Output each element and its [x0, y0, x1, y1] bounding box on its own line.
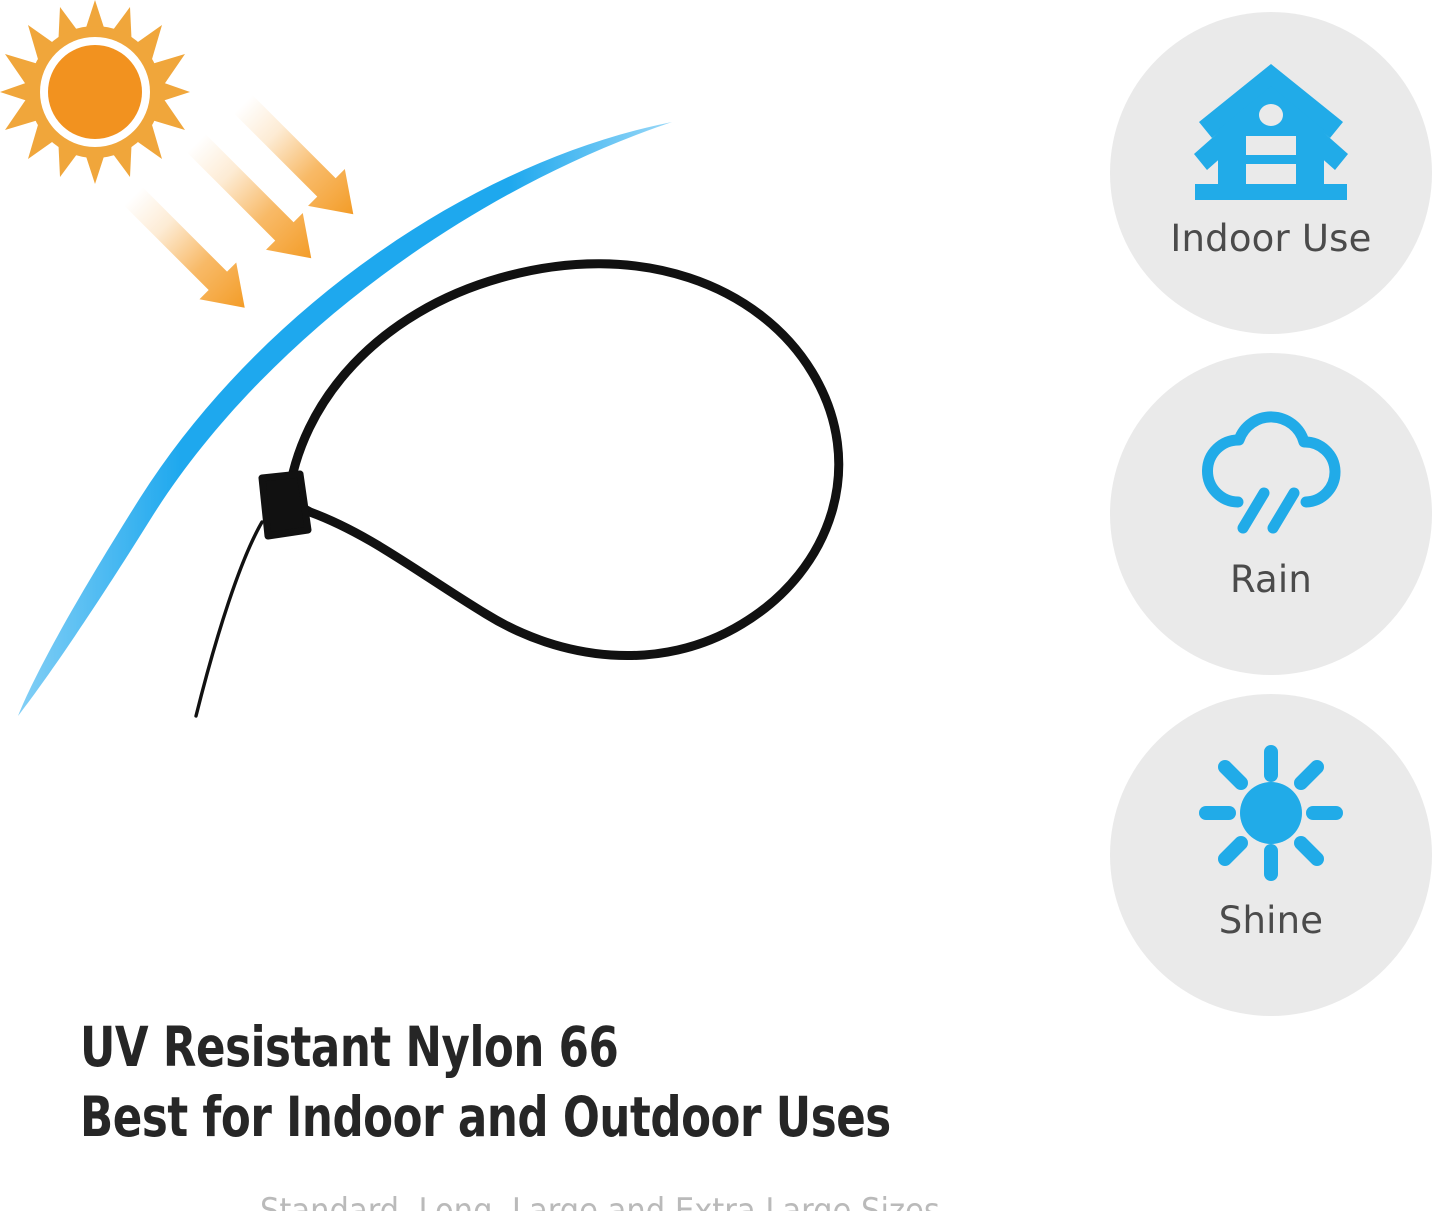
badge-indoor-use[interactable]: Indoor Use — [1110, 12, 1432, 334]
badge-shine[interactable]: Shine — [1110, 694, 1432, 1016]
headline-line-2: Best for Indoor and Outdoor Uses — [80, 1082, 960, 1152]
badge-label-shine: Shine — [1219, 902, 1323, 939]
footnote-clipped: Standard, Long, Large and Extra Large Si… — [260, 1194, 1020, 1211]
infographic-canvas: Indoor Use Rain — [0, 0, 1432, 1211]
sun-shine-icon — [1187, 738, 1355, 888]
footnote-text: Standard, Long, Large and Extra Large Si… — [260, 1194, 1020, 1211]
uv-sunlight-on-cable-tie-illustration — [0, 0, 1060, 1000]
headline-block: UV Resistant Nylon 66 Best for Indoor an… — [80, 1012, 1080, 1152]
rain-cloud-icon — [1187, 397, 1355, 547]
sun-icon — [0, 0, 190, 184]
headline-line-1: UV Resistant Nylon 66 — [80, 1012, 960, 1082]
badge-rain[interactable]: Rain — [1110, 353, 1432, 675]
feature-badge-column: Indoor Use Rain — [1110, 0, 1432, 1022]
house-icon — [1187, 56, 1355, 206]
badge-label-indoor-use: Indoor Use — [1170, 220, 1371, 257]
badge-label-rain: Rain — [1230, 561, 1312, 598]
